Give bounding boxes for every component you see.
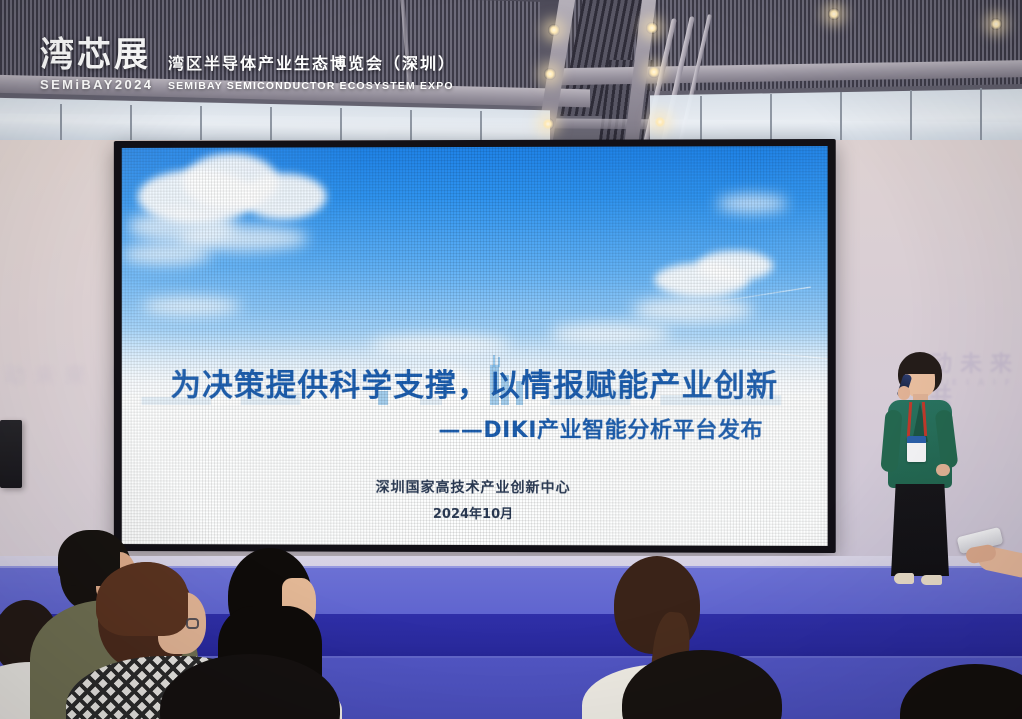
presenter-badge xyxy=(907,436,926,462)
audience-head xyxy=(160,654,340,719)
event-logo-name-en: SEMiBAY2024 xyxy=(40,77,153,92)
slide-date: 2024年10月 xyxy=(122,502,828,523)
ceiling-downlight xyxy=(648,66,660,78)
ceiling-downlight xyxy=(654,116,666,128)
slide-text-block: 为决策提供科学支撑，以情报赋能产业创新 ——DIKI产业智能分析平台发布 深圳国… xyxy=(122,146,828,546)
event-logo-subtitle: 湾区半导体产业生态博览会（深圳） SEMIBAY SEMICONDUCTOR E… xyxy=(168,50,456,92)
audience-member xyxy=(150,654,360,719)
slide-title: 为决策提供科学支撑，以情报赋能产业创新 xyxy=(122,360,828,405)
presenter-shoe-left xyxy=(894,573,914,584)
ceiling-downlight xyxy=(542,118,554,130)
eyeglasses-icon xyxy=(186,618,199,629)
wall-speaker-icon xyxy=(0,420,22,488)
slide-organization: 深圳国家高技术产业创新中心 xyxy=(122,477,828,498)
audience-hand-with-phone xyxy=(952,520,1022,610)
event-subtitle-en: SEMIBAY SEMICONDUCTOR ECOSYSTEM EXPO xyxy=(168,80,456,92)
event-logo: 湾芯展 SEMiBAY2024 xyxy=(40,38,153,92)
presenter-skirt xyxy=(891,484,949,576)
ceiling-downlight xyxy=(548,24,560,36)
event-subtitle-cn: 湾区半导体产业生态博览会（深圳） xyxy=(168,50,456,74)
window-mullion xyxy=(840,92,842,144)
window-mullion xyxy=(910,90,912,142)
presenter-hand-right xyxy=(936,464,950,476)
audience-head xyxy=(622,650,782,719)
presenter-shoe-right xyxy=(921,575,942,585)
ceiling-downlight xyxy=(990,18,1002,30)
led-screen-surface: 为决策提供科学支撑，以情报赋能产业创新 ——DIKI产业智能分析平台发布 深圳国… xyxy=(122,146,828,546)
ceiling-downlight xyxy=(544,68,556,80)
audience-head xyxy=(900,664,1022,719)
audience-member xyxy=(900,664,1022,719)
presenter-hair-front xyxy=(899,358,941,374)
led-screen: 为决策提供科学支撑，以情报赋能产业创新 ——DIKI产业智能分析平台发布 深圳国… xyxy=(114,139,836,553)
event-logo-name-cn: 湾芯展 xyxy=(40,38,153,72)
slide-subtitle: ——DIKI产业智能分析平台发布 xyxy=(122,411,828,444)
audience-hair-overlay xyxy=(96,562,188,636)
window-mullion xyxy=(980,88,982,140)
ceiling-downlight xyxy=(828,8,840,20)
ceiling-downlight xyxy=(646,22,658,34)
presentation-photo: 湾芯展 SEMiBAY2024 湾区半导体产业生态博览会（深圳） SEMIBAY… xyxy=(0,0,1022,719)
audience-member xyxy=(602,650,802,719)
presenter-hand-left xyxy=(898,386,910,400)
